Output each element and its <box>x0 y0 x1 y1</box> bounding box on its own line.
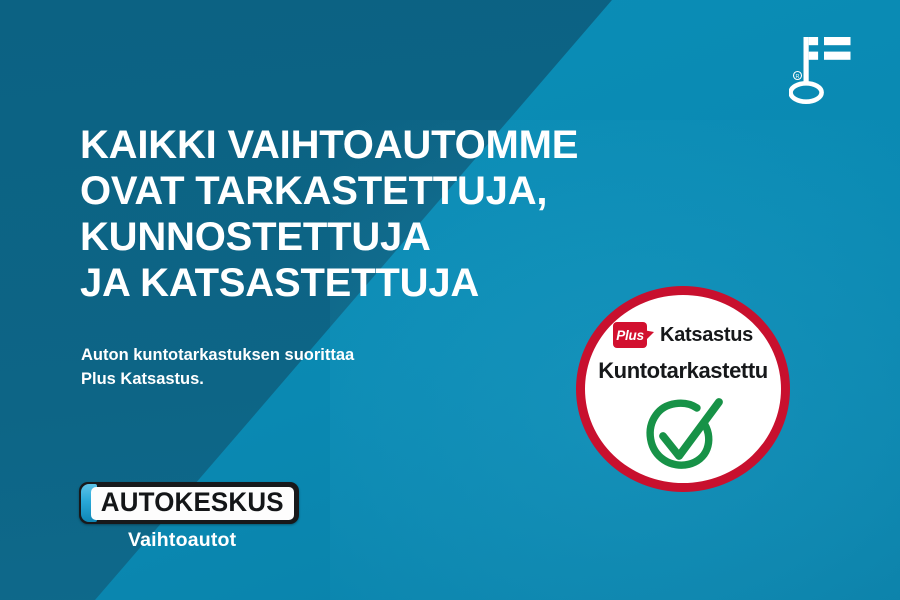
plus-katsastus-badge: Plus Katsastus Kuntotarkastettu <box>576 286 790 492</box>
headline: KAIKKI VAIHTOAUTOMME OVAT TARKASTETTUJA,… <box>80 122 680 306</box>
plate-face: AUTOKESKUS <box>91 487 294 520</box>
autokeskus-subtitle: Vaihtoautot <box>128 529 236 552</box>
plus-logo-icon: Plus <box>613 322 655 348</box>
headline-line-1: KAIKKI VAIHTOAUTOMME <box>80 122 680 168</box>
autokeskus-wordmark: AUTOKESKUS <box>101 489 284 517</box>
subheading-line-2: Plus Katsastus. <box>81 367 501 391</box>
subheading: Auton kuntotarkastuksen suorittaa Plus K… <box>81 343 501 391</box>
badge-brand-row: Plus Katsastus <box>576 322 790 348</box>
svg-text:R: R <box>796 74 800 80</box>
badge-status-text: Kuntotarkastettu <box>576 358 790 384</box>
headline-line-3: KUNNOSTETTUJA <box>80 214 680 260</box>
green-check-circle-icon <box>635 392 731 476</box>
plus-logo-text: Plus <box>613 322 647 348</box>
autokeskus-logo: AUTOKESKUS <box>79 482 299 524</box>
subheading-line-1: Auton kuntotarkastuksen suorittaa <box>81 343 501 367</box>
avainlippu-key-flag-icon: R <box>789 28 861 104</box>
promo-banner: R KAIKKI VAIHTOAUTOMME OVAT TARKASTETTUJ… <box>0 0 900 600</box>
headline-line-2: OVAT TARKASTETTUJA, <box>80 168 680 214</box>
badge-brand-name: Katsastus <box>660 325 753 345</box>
